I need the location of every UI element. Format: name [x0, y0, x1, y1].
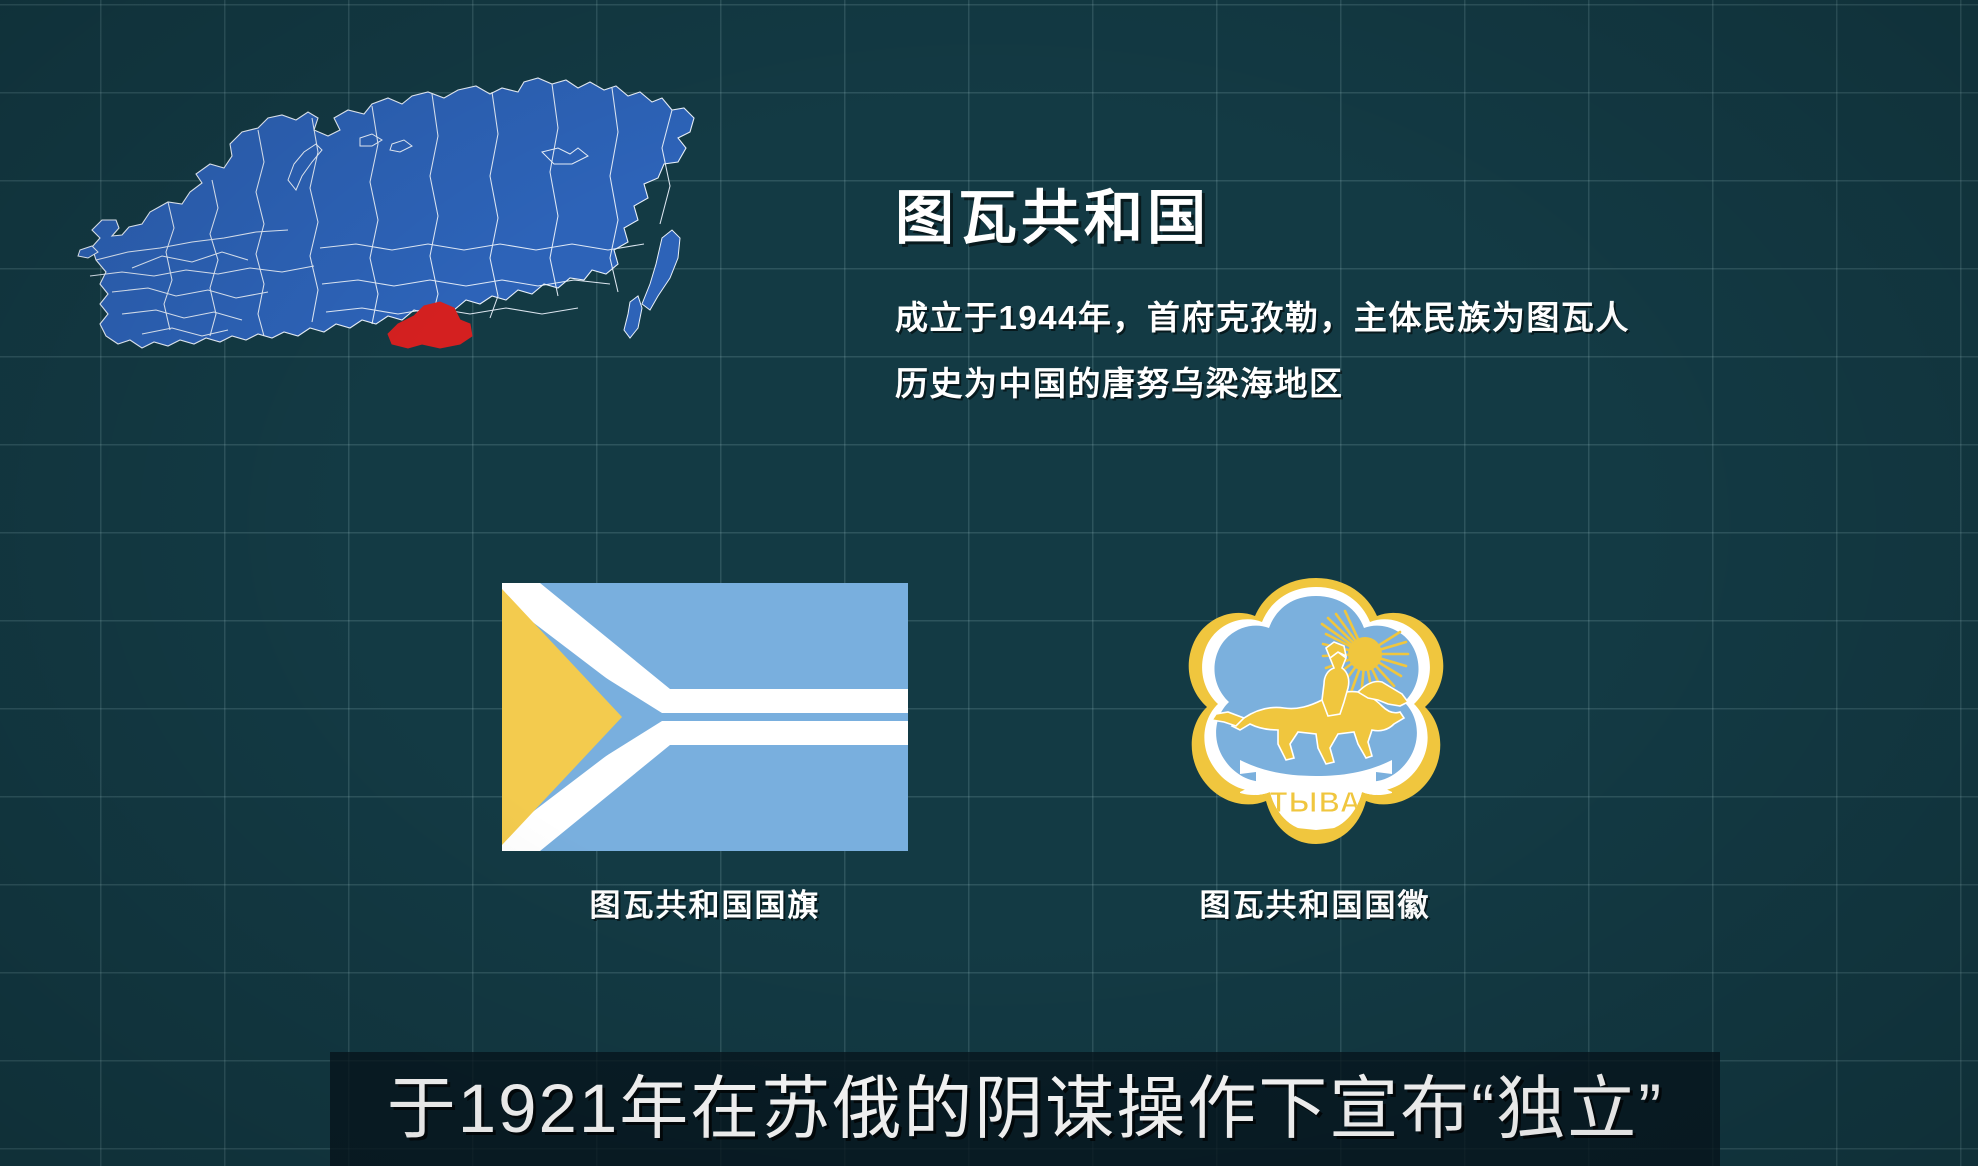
tuva-flag-image: [502, 583, 908, 851]
russia-map: [72, 52, 712, 402]
subtitle-bar: 于1921年在苏俄的阴谋操作下宣布“独立”: [330, 1052, 1720, 1166]
page-title: 图瓦共和国: [895, 170, 1210, 255]
kamchatka-peninsula: [642, 230, 680, 310]
subtitle-line-1: 成立于1944年，首府克孜勒，主体民族为图瓦人: [895, 291, 1630, 339]
tuva-emblem-image: ТЫВА: [1182, 578, 1450, 850]
russia-landmass-shape: [92, 78, 694, 348]
flag-caption: 图瓦共和国国旗: [450, 880, 960, 925]
emblem-caption: 图瓦共和国国徽: [1060, 880, 1570, 925]
subtitle-text: 于1921年在苏俄的阴谋操作下宣布“独立”: [387, 1073, 1663, 1145]
emblem-sun-disc: [1348, 637, 1382, 671]
subtitle-line-2: 历史为中国的唐努乌梁海地区: [895, 357, 1344, 405]
emblem-banner-text: ТЫВА: [1270, 787, 1363, 819]
sakhalin-island: [624, 296, 642, 338]
